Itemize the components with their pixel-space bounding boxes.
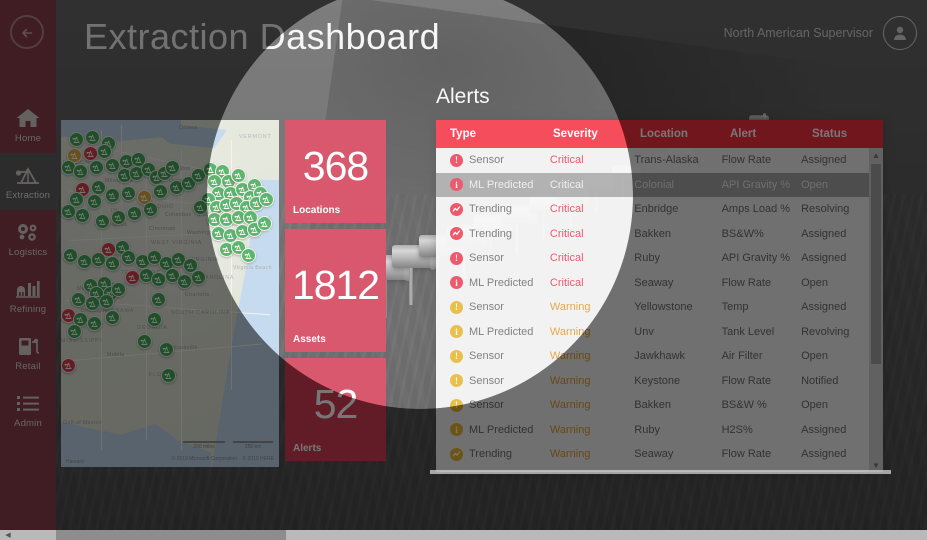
cell-type: Trending	[450, 203, 550, 216]
map-place-label: MISSISSIPPI	[61, 338, 102, 344]
cell-severity: Warning	[550, 375, 634, 387]
map-scale-km-group: 250 km	[233, 441, 273, 450]
cell-location: Seaway	[634, 448, 721, 460]
home-icon	[15, 105, 41, 131]
exclamation-icon: !	[450, 374, 463, 387]
cell-alert: API Gravity %	[722, 252, 802, 264]
hscroll-left-arrow-icon[interactable]: ◀	[2, 530, 14, 540]
cell-location: Bakken	[634, 228, 721, 240]
map-pin-ok[interactable]	[143, 202, 158, 217]
cell-alert: Air Filter	[722, 350, 802, 362]
column-header-location[interactable]: Location	[640, 128, 730, 140]
map-pin-ok[interactable]	[87, 194, 102, 209]
map-pin-ok[interactable]	[191, 270, 206, 285]
map-pin-ok[interactable]	[259, 192, 274, 207]
kpi-tile-alerts[interactable]: 52Alerts	[285, 358, 386, 461]
table-row[interactable]: iML PredictedWarningRubyH2S%Assigned	[436, 418, 869, 443]
map-pin-ok[interactable]	[121, 186, 136, 201]
table-row[interactable]: TrendingCriticalEnbridgeAmps Load %Resol…	[436, 197, 869, 222]
column-header-alert[interactable]: Alert	[730, 128, 812, 140]
cell-location: Jawkhawk	[634, 350, 721, 362]
scroll-up-arrow-icon[interactable]: ▲	[869, 148, 883, 162]
map-pin-ok[interactable]	[105, 256, 120, 271]
user-area[interactable]: North American Supervisor	[724, 16, 917, 50]
map-pin-ok[interactable]	[177, 274, 192, 289]
table-row[interactable]: !SensorWarningKeystoneFlow RateNotified	[436, 369, 869, 394]
map-attribution: © 2019 Microsoft Corporation © 2019 HERE	[172, 456, 274, 462]
cell-alert: BS&W%	[722, 228, 802, 240]
map-pin-ok[interactable]	[151, 292, 166, 307]
cell-type-label: ML Predicted	[469, 424, 533, 436]
cell-type: iML Predicted	[450, 178, 550, 191]
table-row[interactable]: TrendingWarningSeawayFlow RateAssigned	[436, 442, 869, 467]
sidebar-item-label: Retail	[15, 361, 41, 372]
kpi-tiles: 368Locations1812Assets52Alerts	[285, 120, 386, 467]
window-horizontal-scrollbar[interactable]: ◀	[0, 530, 927, 540]
map-scale-miles-group: 200 miles	[183, 441, 225, 450]
map-attribution-here: © 2019 HERE	[243, 456, 274, 462]
cell-severity: Critical	[550, 277, 634, 289]
cell-status: Assigned	[801, 448, 869, 460]
refinery-icon	[14, 276, 42, 302]
cell-type: iML Predicted	[450, 276, 550, 289]
exclamation-icon: !	[450, 350, 463, 363]
kpi-tile-assets[interactable]: 1812Assets	[285, 229, 386, 352]
map-pin-ok[interactable]	[111, 282, 126, 297]
cell-severity: Critical	[550, 252, 634, 264]
map-pin-ok[interactable]	[193, 200, 208, 215]
kpi-label: Assets	[293, 334, 326, 345]
trend-icon	[450, 203, 463, 216]
cell-status: Assigned	[801, 424, 869, 436]
cell-severity: Critical	[550, 203, 634, 215]
map-place-label: WEST VIRGINIA	[151, 240, 202, 246]
exclamation-icon: !	[450, 154, 463, 167]
cell-location: Yellowstone	[634, 301, 721, 313]
map-pin-ok[interactable]	[121, 250, 136, 265]
table-row[interactable]: iML PredictedCriticalSeawayFlow RateOpen	[436, 271, 869, 296]
cell-severity: Warning	[550, 326, 634, 338]
cell-status: Assigned	[801, 301, 869, 313]
map-pin-ok[interactable]	[241, 248, 256, 263]
cell-type-label: Sensor	[469, 154, 504, 166]
map-pin-ok[interactable]	[161, 368, 176, 383]
map-scale-km: 250 km	[245, 444, 261, 450]
kpi-value: 1812	[285, 261, 386, 308]
map-pin-ok[interactable]	[91, 252, 106, 267]
cell-severity: Warning	[550, 424, 634, 436]
cell-severity: Critical	[550, 154, 634, 166]
sidebar-item-refining[interactable]: Refining	[0, 267, 56, 324]
cell-location: Ruby	[634, 252, 721, 264]
cell-type-label: ML Predicted	[469, 326, 533, 338]
map-place-label: Cincinnati	[149, 226, 176, 232]
kpi-label: Alerts	[293, 443, 321, 454]
map-pin-critical[interactable]	[61, 358, 76, 373]
map-pin-ok[interactable]	[61, 204, 76, 219]
map-place-label: Charlotte	[185, 292, 210, 298]
map-place-label: Virginia Beach	[233, 265, 272, 271]
map-pin-ok[interactable]	[159, 342, 174, 357]
cell-type: !Sensor	[450, 350, 550, 363]
cell-type: !Sensor	[450, 374, 550, 387]
map-place-label: Mobile	[107, 352, 125, 358]
cell-status: Open	[801, 350, 869, 362]
back-arrow-icon[interactable]	[10, 15, 44, 49]
map-place-label: SOUTH CAROLINA	[171, 310, 230, 316]
map-place-label: Columbus	[165, 212, 192, 218]
map-pin-ok[interactable]	[71, 292, 86, 307]
user-avatar-icon[interactable]	[883, 16, 917, 50]
sidebar-item-label: Extraction	[6, 190, 50, 201]
cell-type-label: Sensor	[469, 301, 504, 313]
cell-alert: API Gravity %	[722, 179, 802, 191]
map-pin-ok[interactable]	[63, 248, 78, 263]
column-header-severity[interactable]: Severity	[553, 128, 640, 140]
cell-alert: Temp	[722, 301, 802, 313]
kpi-label: Locations	[293, 205, 340, 216]
kpi-value: 52	[285, 380, 386, 427]
cell-status: Open	[801, 179, 869, 191]
cell-severity: Warning	[550, 448, 634, 460]
table-row[interactable]: !SensorCriticalRubyAPI Gravity %Assigned	[436, 246, 869, 271]
locations-map[interactable]: OttawaVERMONTWISCONSINMICHIGANHamiltonMi…	[61, 120, 279, 467]
cell-severity: Critical	[550, 179, 634, 191]
info-icon: i	[450, 423, 463, 436]
sidebar-item-home[interactable]: Home	[0, 96, 56, 153]
cell-type-label: Sensor	[469, 375, 504, 387]
sidebar-item-admin[interactable]: Admin	[0, 381, 56, 438]
map-scale-bar: 200 miles 250 km	[183, 441, 273, 450]
cell-type-label: ML Predicted	[469, 277, 533, 289]
cell-type-label: Sensor	[469, 350, 504, 362]
kpi-value: 368	[285, 142, 386, 189]
map-place-label: OHIO	[157, 204, 174, 210]
sidebar-item-retail[interactable]: Retail	[0, 324, 56, 381]
map-pin-ok[interactable]	[85, 130, 100, 145]
pumpjack-icon	[14, 162, 42, 188]
sidebar-item-label: Home	[15, 133, 41, 144]
alerts-table-body: !SensorCriticalTrans-AlaskaFlow RateAssi…	[436, 148, 883, 472]
list-icon	[15, 390, 41, 416]
map-pin-critical[interactable]	[125, 270, 140, 285]
map-pin-ok[interactable]	[151, 272, 166, 287]
map-place-label: VERMONT	[239, 134, 272, 140]
cell-severity: Warning	[550, 399, 634, 411]
table-row[interactable]: !SensorWarningJawkhawkAir FilterOpen	[436, 344, 869, 369]
cell-location: Trans-Alaska	[634, 154, 721, 166]
map-pin-ok[interactable]	[69, 132, 84, 147]
cell-type: !Sensor	[450, 252, 550, 265]
trend-icon	[450, 227, 463, 240]
cell-type-label: Trending	[469, 228, 512, 240]
page-title: Extraction Dashboard	[84, 16, 440, 58]
map-pin-ok[interactable]	[257, 216, 272, 231]
content-area: Extraction Dashboard North American Supe…	[56, 0, 927, 540]
cell-type-label: Sensor	[469, 252, 504, 264]
cell-alert: BS&W %	[722, 399, 802, 411]
cell-status: Revolving	[801, 326, 869, 338]
cell-status: Assigned	[801, 154, 869, 166]
cell-severity: Warning	[550, 301, 634, 313]
cell-type: !Sensor	[450, 301, 550, 314]
map-pin-ok[interactable]	[137, 334, 152, 349]
sidebar-item-extraction[interactable]: Extraction	[0, 153, 56, 210]
fuel-pump-icon	[15, 333, 41, 359]
map-pin-ok[interactable]	[111, 210, 126, 225]
exclamation-icon: !	[450, 252, 463, 265]
cell-status: Notified	[801, 375, 869, 387]
map-pin-ok[interactable]	[95, 214, 110, 229]
cell-status: Resolving	[801, 203, 869, 215]
cell-alert: Flow Rate	[722, 448, 802, 460]
cell-alert: Flow Rate	[722, 154, 802, 166]
exclamation-icon: !	[450, 301, 463, 314]
cell-status: Assigned	[801, 228, 869, 240]
alerts-section-heading: Alerts	[436, 85, 490, 109]
info-icon: i	[450, 276, 463, 289]
cell-status: Assigned	[801, 252, 869, 264]
left-navigation-rail: HomeExtractionLogisticsRefiningRetailAdm…	[0, 0, 56, 540]
trend-icon	[450, 448, 463, 461]
table-row[interactable]: iML PredictedCriticalColonialAPI Gravity…	[436, 173, 869, 198]
map-place-label: Gulf of Mexico	[63, 420, 102, 426]
map-pin-ok[interactable]	[105, 188, 120, 203]
map-pin-ok[interactable]	[85, 296, 100, 311]
map-attribution-ms: © 2019 Microsoft Corporation	[172, 456, 237, 462]
sidebar-item-label: Logistics	[9, 247, 48, 258]
map-road	[181, 150, 182, 450]
cell-location: Keystone	[634, 375, 721, 387]
cell-type: !Sensor	[450, 154, 550, 167]
gears-icon	[14, 219, 42, 245]
cell-alert: Flow Rate	[722, 375, 802, 387]
table-row[interactable]: TrendingCriticalBakkenBS&W%Assigned	[436, 222, 869, 247]
map-pin-ok[interactable]	[153, 184, 168, 199]
map-pin-ok[interactable]	[67, 324, 82, 339]
map-pin-ok[interactable]	[165, 160, 180, 175]
map-place-label: Ottawa	[179, 125, 198, 131]
cell-location: Seaway	[634, 277, 721, 289]
cell-alert: H2S%	[722, 424, 802, 436]
cell-location: Enbridge	[634, 203, 721, 215]
cell-location: Bakken	[634, 399, 721, 411]
kpi-tile-locations[interactable]: 368Locations	[285, 120, 386, 223]
cell-alert: Flow Rate	[722, 277, 802, 289]
cell-type: Trending	[450, 448, 550, 461]
exclamation-icon: !	[450, 399, 463, 412]
map-pin-ok[interactable]	[89, 160, 104, 175]
cell-type: iML Predicted	[450, 423, 550, 436]
sidebar-item-logistics[interactable]: Logistics	[0, 210, 56, 267]
map-pin-ok[interactable]	[231, 168, 246, 183]
cell-type-label: Trending	[469, 448, 512, 460]
info-icon: i	[450, 178, 463, 191]
table-row[interactable]: !SensorWarningBakkenBS&W %Open	[436, 393, 869, 418]
alerts-table-panel: Type Severity Location Alert Status !Sen…	[436, 120, 883, 472]
cell-type-label: Sensor	[469, 399, 504, 411]
map-pin-ok[interactable]	[91, 180, 106, 195]
table-row[interactable]: !SensorWarningYellowstoneTempAssigned	[436, 295, 869, 320]
map-pin-ok[interactable]	[87, 316, 102, 331]
cell-severity: Critical	[550, 228, 634, 240]
cell-location: Unv	[634, 326, 721, 338]
cell-severity: Warning	[550, 350, 634, 362]
map-scale-miles: 200 miles	[193, 444, 214, 450]
cell-type: !Sensor	[450, 399, 550, 412]
hscroll-thumb[interactable]	[56, 530, 286, 540]
table-row[interactable]: iML PredictedWarningUnvTank LevelRevolvi…	[436, 320, 869, 345]
map-pin-ok[interactable]	[75, 208, 90, 223]
cell-status: Open	[801, 399, 869, 411]
cell-alert: Amps Load %	[722, 203, 802, 215]
alerts-vertical-scrollbar[interactable]: ▲ ▼	[869, 148, 883, 472]
column-header-type[interactable]: Type	[450, 128, 553, 140]
cell-type-label: Trending	[469, 203, 512, 215]
map-pin-ok[interactable]	[147, 312, 162, 327]
cell-location: Colonial	[634, 179, 721, 191]
map-pin-ok[interactable]	[97, 144, 112, 159]
map-pin-critical[interactable]	[83, 146, 98, 161]
info-icon: i	[450, 325, 463, 338]
sidebar-item-label: Refining	[10, 304, 46, 315]
map-pin-ok[interactable]	[99, 294, 114, 309]
user-name: North American Supervisor	[724, 26, 873, 40]
map-pin-ok[interactable]	[77, 254, 92, 269]
cell-status: Open	[801, 277, 869, 289]
window-inner-scroll-strip[interactable]	[430, 470, 891, 474]
map-corner-label: Harvard	[66, 459, 84, 465]
cell-type-label: ML Predicted	[469, 179, 533, 191]
scrollbar-thumb[interactable]	[871, 164, 881, 364]
cell-alert: Tank Level	[722, 326, 802, 338]
sidebar-item-label: Admin	[14, 418, 42, 429]
map-pin-ok[interactable]	[73, 164, 88, 179]
cell-location: Ruby	[634, 424, 721, 436]
table-row[interactable]: !SensorCriticalTrans-AlaskaFlow RateAssi…	[436, 148, 869, 173]
cell-type: Trending	[450, 227, 550, 240]
column-header-status[interactable]: Status	[812, 128, 882, 140]
map-pin-ok[interactable]	[105, 310, 120, 325]
cell-type: iML Predicted	[450, 325, 550, 338]
alerts-table-header: Type Severity Location Alert Status	[436, 120, 883, 148]
map-pin-ok[interactable]	[127, 206, 142, 221]
alerts-row-list: !SensorCriticalTrans-AlaskaFlow RateAssi…	[436, 148, 869, 472]
dashboard-window: Extraction Dashboard North American Supe…	[0, 0, 927, 540]
